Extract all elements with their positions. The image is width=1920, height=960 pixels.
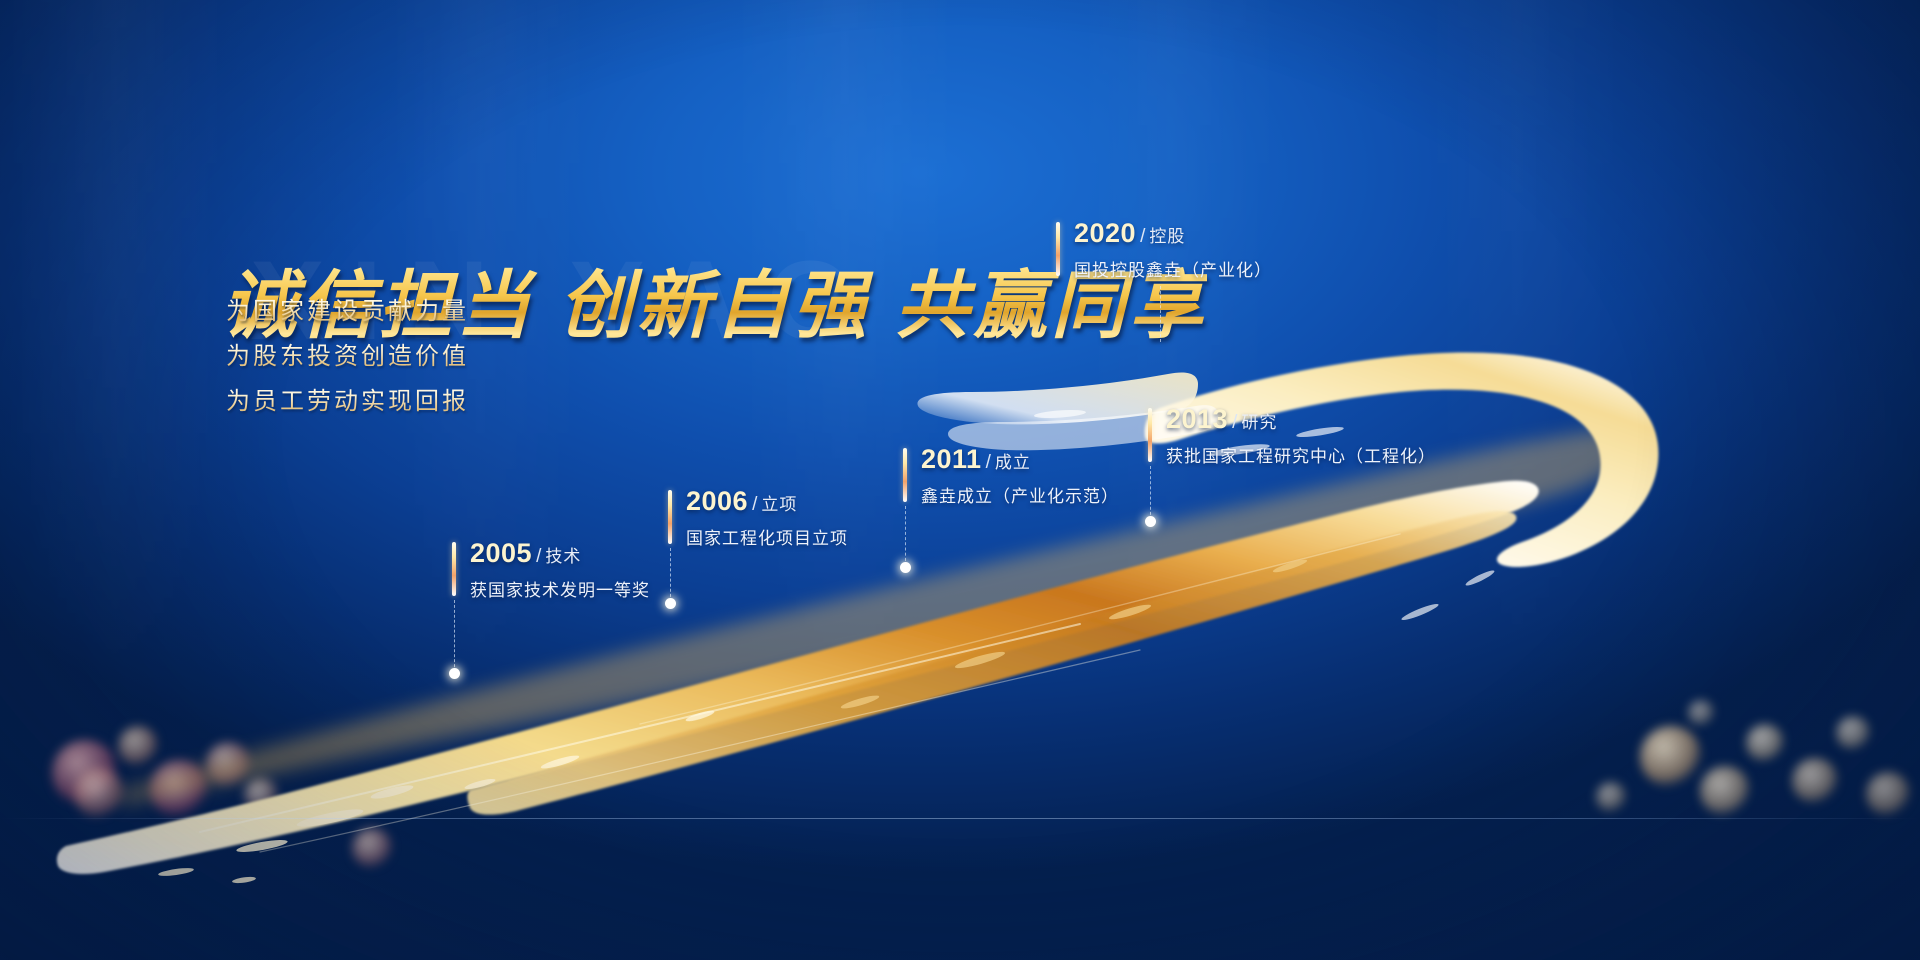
milestone-leader-line — [905, 506, 906, 566]
milestone-accent-bar — [1148, 408, 1152, 462]
bokeh-light — [52, 740, 118, 806]
bokeh-light — [1688, 700, 1714, 726]
milestone-year: 2005 — [470, 538, 532, 568]
subtitle-line-1: 为国家建设贡献力量 — [226, 291, 469, 326]
milestone-point — [900, 562, 911, 573]
milestone-text: 2005/技术 获国家技术发明一等奖 — [470, 538, 650, 601]
milestone-description: 国投控股鑫垚（产业化） — [1074, 256, 1272, 281]
milestone-accent-bar — [452, 542, 456, 596]
milestone-description: 国家工程化项目立项 — [686, 524, 848, 549]
milestone-year: 2006 — [686, 486, 748, 516]
milestone-separator: / — [1232, 412, 1237, 433]
bokeh-light — [1746, 724, 1784, 762]
bokeh-light — [244, 778, 278, 812]
bokeh-light — [1640, 726, 1702, 788]
milestone-tag: 立项 — [761, 495, 797, 514]
milestone-text: 2006/立项 国家工程化项目立项 — [686, 486, 848, 549]
milestone-separator: / — [752, 494, 757, 515]
milestone-tag: 成立 — [995, 453, 1031, 472]
milestone-text: 2020/控股 国投控股鑫垚（产业化） — [1074, 218, 1272, 281]
milestone-leader-line — [454, 600, 455, 672]
bokeh-light — [206, 742, 250, 786]
milestone-leader-line — [1160, 286, 1161, 342]
milestone-separator: / — [986, 452, 991, 473]
milestone-point — [665, 598, 676, 609]
milestone-accent-bar — [668, 490, 672, 544]
milestone-description: 获批国家工程研究中心（工程化） — [1166, 442, 1436, 467]
milestone-description: 获国家技术发明一等奖 — [470, 576, 650, 601]
milestone-separator: / — [536, 546, 541, 567]
milestone-accent-bar — [903, 448, 907, 502]
bokeh-light — [1792, 758, 1838, 804]
milestone-year: 2011 — [921, 444, 982, 474]
bokeh-light — [1836, 716, 1870, 750]
bokeh-light — [1700, 766, 1750, 816]
milestone-year: 2020 — [1074, 218, 1136, 248]
milestone-point — [449, 668, 460, 679]
milestone-tag: 控股 — [1149, 227, 1185, 246]
bokeh-light — [1866, 772, 1910, 816]
bokeh-light — [118, 726, 158, 766]
subtitle-line-2: 为股东投资创造价值 — [226, 336, 469, 371]
bokeh-light — [1596, 782, 1626, 812]
milestone-tag: 研究 — [1241, 413, 1277, 432]
bokeh-light — [74, 768, 124, 818]
bokeh-light — [150, 760, 208, 818]
milestone-separator: / — [1140, 226, 1145, 247]
banner-stage: XIN YAO 诚信担当 创新自强 共赢同享 为国家建设贡献力量 为股东投资创造… — [0, 0, 1920, 960]
milestone-year: 2013 — [1166, 404, 1228, 434]
subtitle-line-3: 为员工劳动实现回报 — [226, 381, 469, 416]
bokeh-light — [178, 822, 206, 850]
milestone-point — [1145, 516, 1156, 527]
horizon-divider — [0, 818, 1920, 819]
bokeh-light — [352, 828, 392, 868]
milestone-description: 鑫垚成立（产业化示范） — [921, 482, 1119, 507]
milestone-tag: 技术 — [545, 547, 581, 566]
milestone-accent-bar — [1056, 222, 1060, 276]
milestone-text: 2013/研究 获批国家工程研究中心（工程化） — [1166, 404, 1436, 467]
milestone-text: 2011/成立 鑫垚成立（产业化示范） — [921, 444, 1119, 507]
milestone-leader-line — [1150, 466, 1151, 520]
milestone-leader-line — [670, 548, 671, 602]
